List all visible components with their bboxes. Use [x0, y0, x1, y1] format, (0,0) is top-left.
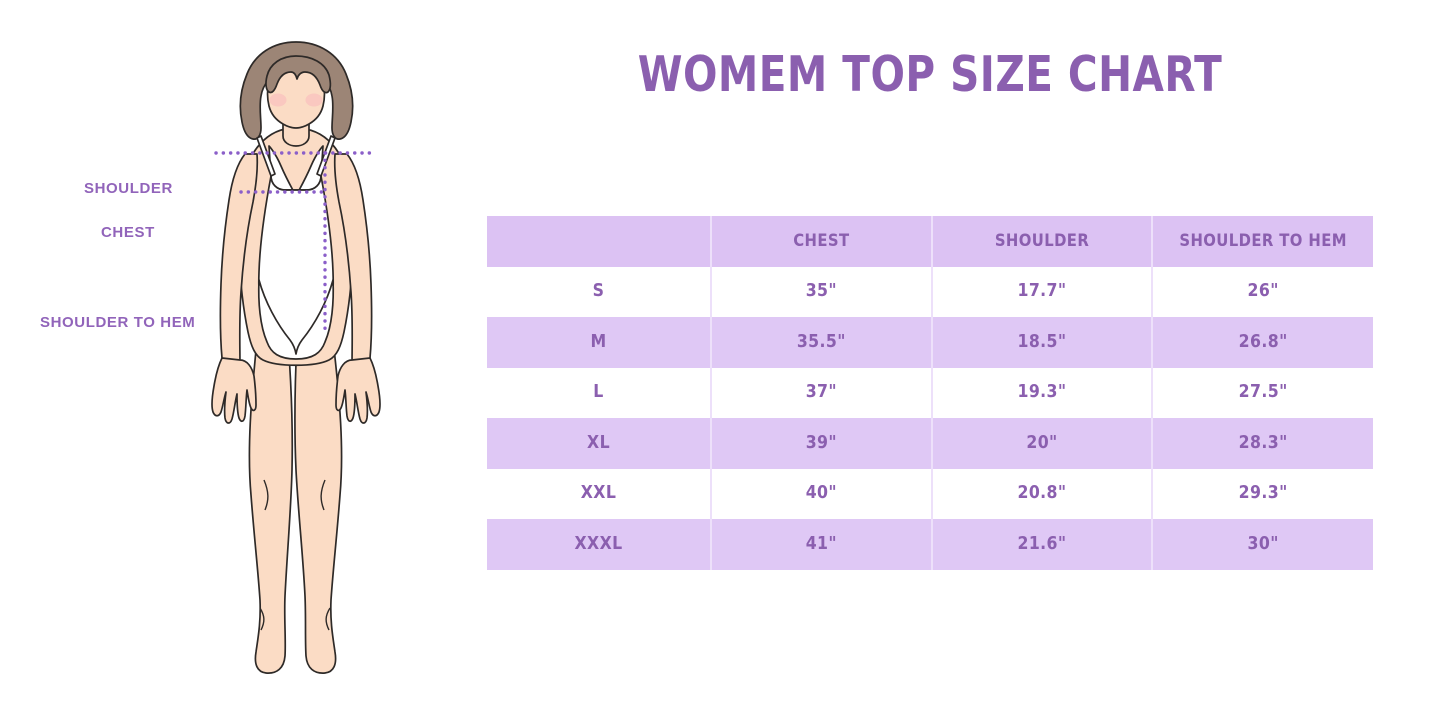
label-chest: CHEST [101, 224, 155, 241]
cell-shoulder: 19.3" [932, 368, 1153, 419]
cell-chest: 39" [711, 418, 932, 469]
cell-chest: 37" [711, 368, 932, 419]
cell-shoulder-to-hem: 29.3" [1152, 469, 1373, 520]
table-row: XXL 40" 20.8" 29.3" [487, 469, 1373, 520]
column-header-chest: CHEST [711, 216, 932, 267]
cell-size: S [487, 267, 711, 318]
table-row: XXXL 41" 21.6" 30" [487, 519, 1373, 570]
cell-size: M [487, 317, 711, 368]
cell-chest: 40" [711, 469, 932, 520]
cell-chest: 41" [711, 519, 932, 570]
column-header-shoulder-to-hem: SHOULDER TO HEM [1152, 216, 1373, 267]
cell-shoulder: 20" [932, 418, 1153, 469]
cell-shoulder: 18.5" [932, 317, 1153, 368]
cell-size: XXL [487, 469, 711, 520]
cell-chest: 35.5" [711, 317, 932, 368]
cell-shoulder-to-hem: 26" [1152, 267, 1373, 318]
cell-shoulder: 17.7" [932, 267, 1153, 318]
cell-size: L [487, 368, 711, 419]
head [240, 42, 352, 139]
size-chart-table: CHEST SHOULDER SHOULDER TO HEM S 35" 17.… [487, 216, 1373, 570]
page-title: WOMEM TOP SIZE CHART [522, 48, 1337, 102]
table-head: CHEST SHOULDER SHOULDER TO HEM [487, 216, 1373, 267]
cell-shoulder-to-hem: 27.5" [1152, 368, 1373, 419]
cell-shoulder: 21.6" [932, 519, 1153, 570]
cell-shoulder-to-hem: 26.8" [1152, 317, 1373, 368]
table-row: XL 39" 20" 28.3" [487, 418, 1373, 469]
cell-size: XXXL [487, 519, 711, 570]
column-header-size [487, 216, 711, 267]
cheek-left [270, 94, 287, 107]
female-body-figure: .sk { fill:#FBDCC5; stroke:#2E2A28; stro… [185, 40, 415, 690]
size-chart-page: WOMEM TOP SIZE CHART .sk { fill:#FBDCC5;… [0, 0, 1445, 723]
column-header-shoulder: SHOULDER [932, 216, 1153, 267]
cheek-right [306, 94, 323, 107]
cell-size: XL [487, 418, 711, 469]
table-header-row: CHEST SHOULDER SHOULDER TO HEM [487, 216, 1373, 267]
cell-shoulder-to-hem: 28.3" [1152, 418, 1373, 469]
table-body: S 35" 17.7" 26" M 35.5" 18.5" 26.8" L 37… [487, 267, 1373, 570]
cell-shoulder-to-hem: 30" [1152, 519, 1373, 570]
legs [249, 340, 341, 673]
table-row: L 37" 19.3" 27.5" [487, 368, 1373, 419]
label-shoulder: SHOULDER [84, 180, 173, 197]
cell-chest: 35" [711, 267, 932, 318]
table-row: M 35.5" 18.5" 26.8" [487, 317, 1373, 368]
cell-shoulder: 20.8" [932, 469, 1153, 520]
table-row: S 35" 17.7" 26" [487, 267, 1373, 318]
illustration-panel: .sk { fill:#FBDCC5; stroke:#2E2A28; stro… [0, 0, 470, 723]
label-shoulder-to-hem: SHOULDER TO HEM [40, 314, 195, 331]
